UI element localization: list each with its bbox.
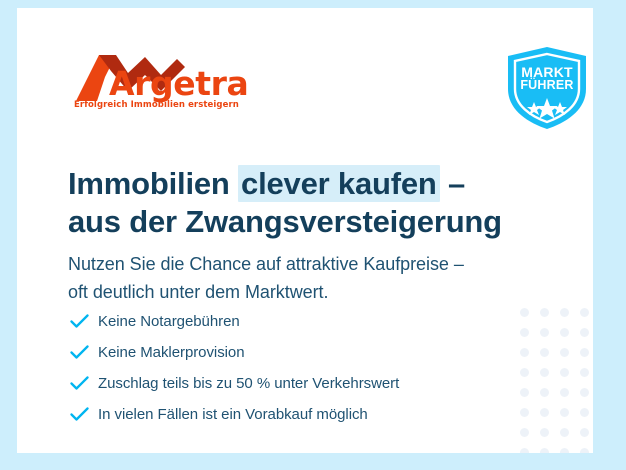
argetra-logo[interactable]: Argetra Erfolgreich Immobilien ersteiger… — [73, 53, 253, 115]
list-item-label: Keine Maklerprovision — [98, 344, 245, 361]
subtitle: Nutzen Sie die Chance auf attraktive Kau… — [68, 250, 568, 306]
logo-tagline: Erfolgreich Immobilien ersteigern — [74, 100, 239, 110]
list-item-label: In vielen Fällen ist ein Vorabkauf mögli… — [98, 406, 368, 423]
promo-banner: Argetra Erfolgreich Immobilien ersteiger… — [0, 0, 626, 470]
check-icon — [70, 314, 98, 329]
list-item: Keine Maklerprovision — [70, 337, 540, 368]
list-item: In vielen Fällen ist ein Vorabkauf mögli… — [70, 399, 540, 430]
check-icon — [70, 407, 98, 422]
headline-part-1: Immobilien — [68, 166, 238, 201]
page-title: Immobilien clever kaufen – aus der Zwang… — [68, 165, 568, 241]
headline-line-2: aus der Zwangsversteigerung — [68, 204, 502, 239]
benefits-list: Keine Notargebühren Keine Maklerprovisio… — [70, 306, 540, 430]
subtitle-line-2: oft deutlich unter dem Marktwert. — [68, 282, 328, 302]
logo-wordmark: Argetra — [109, 67, 248, 100]
list-item: Zuschlag teils bis zu 50 % unter Verkehr… — [70, 368, 540, 399]
headline-part-2: – — [440, 166, 465, 201]
check-icon — [70, 345, 98, 360]
market-leader-badge: MARKT FÜHRER — [504, 45, 590, 131]
subtitle-line-1: Nutzen Sie die Chance auf attraktive Kau… — [68, 254, 464, 274]
list-item-label: Keine Notargebühren — [98, 313, 240, 330]
banner-card: Argetra Erfolgreich Immobilien ersteiger… — [17, 8, 593, 453]
check-icon — [70, 376, 98, 391]
headline-highlight: clever kaufen — [238, 165, 440, 202]
list-item: Keine Notargebühren — [70, 306, 540, 337]
shield-icon — [504, 45, 590, 131]
list-item-label: Zuschlag teils bis zu 50 % unter Verkehr… — [98, 375, 399, 392]
